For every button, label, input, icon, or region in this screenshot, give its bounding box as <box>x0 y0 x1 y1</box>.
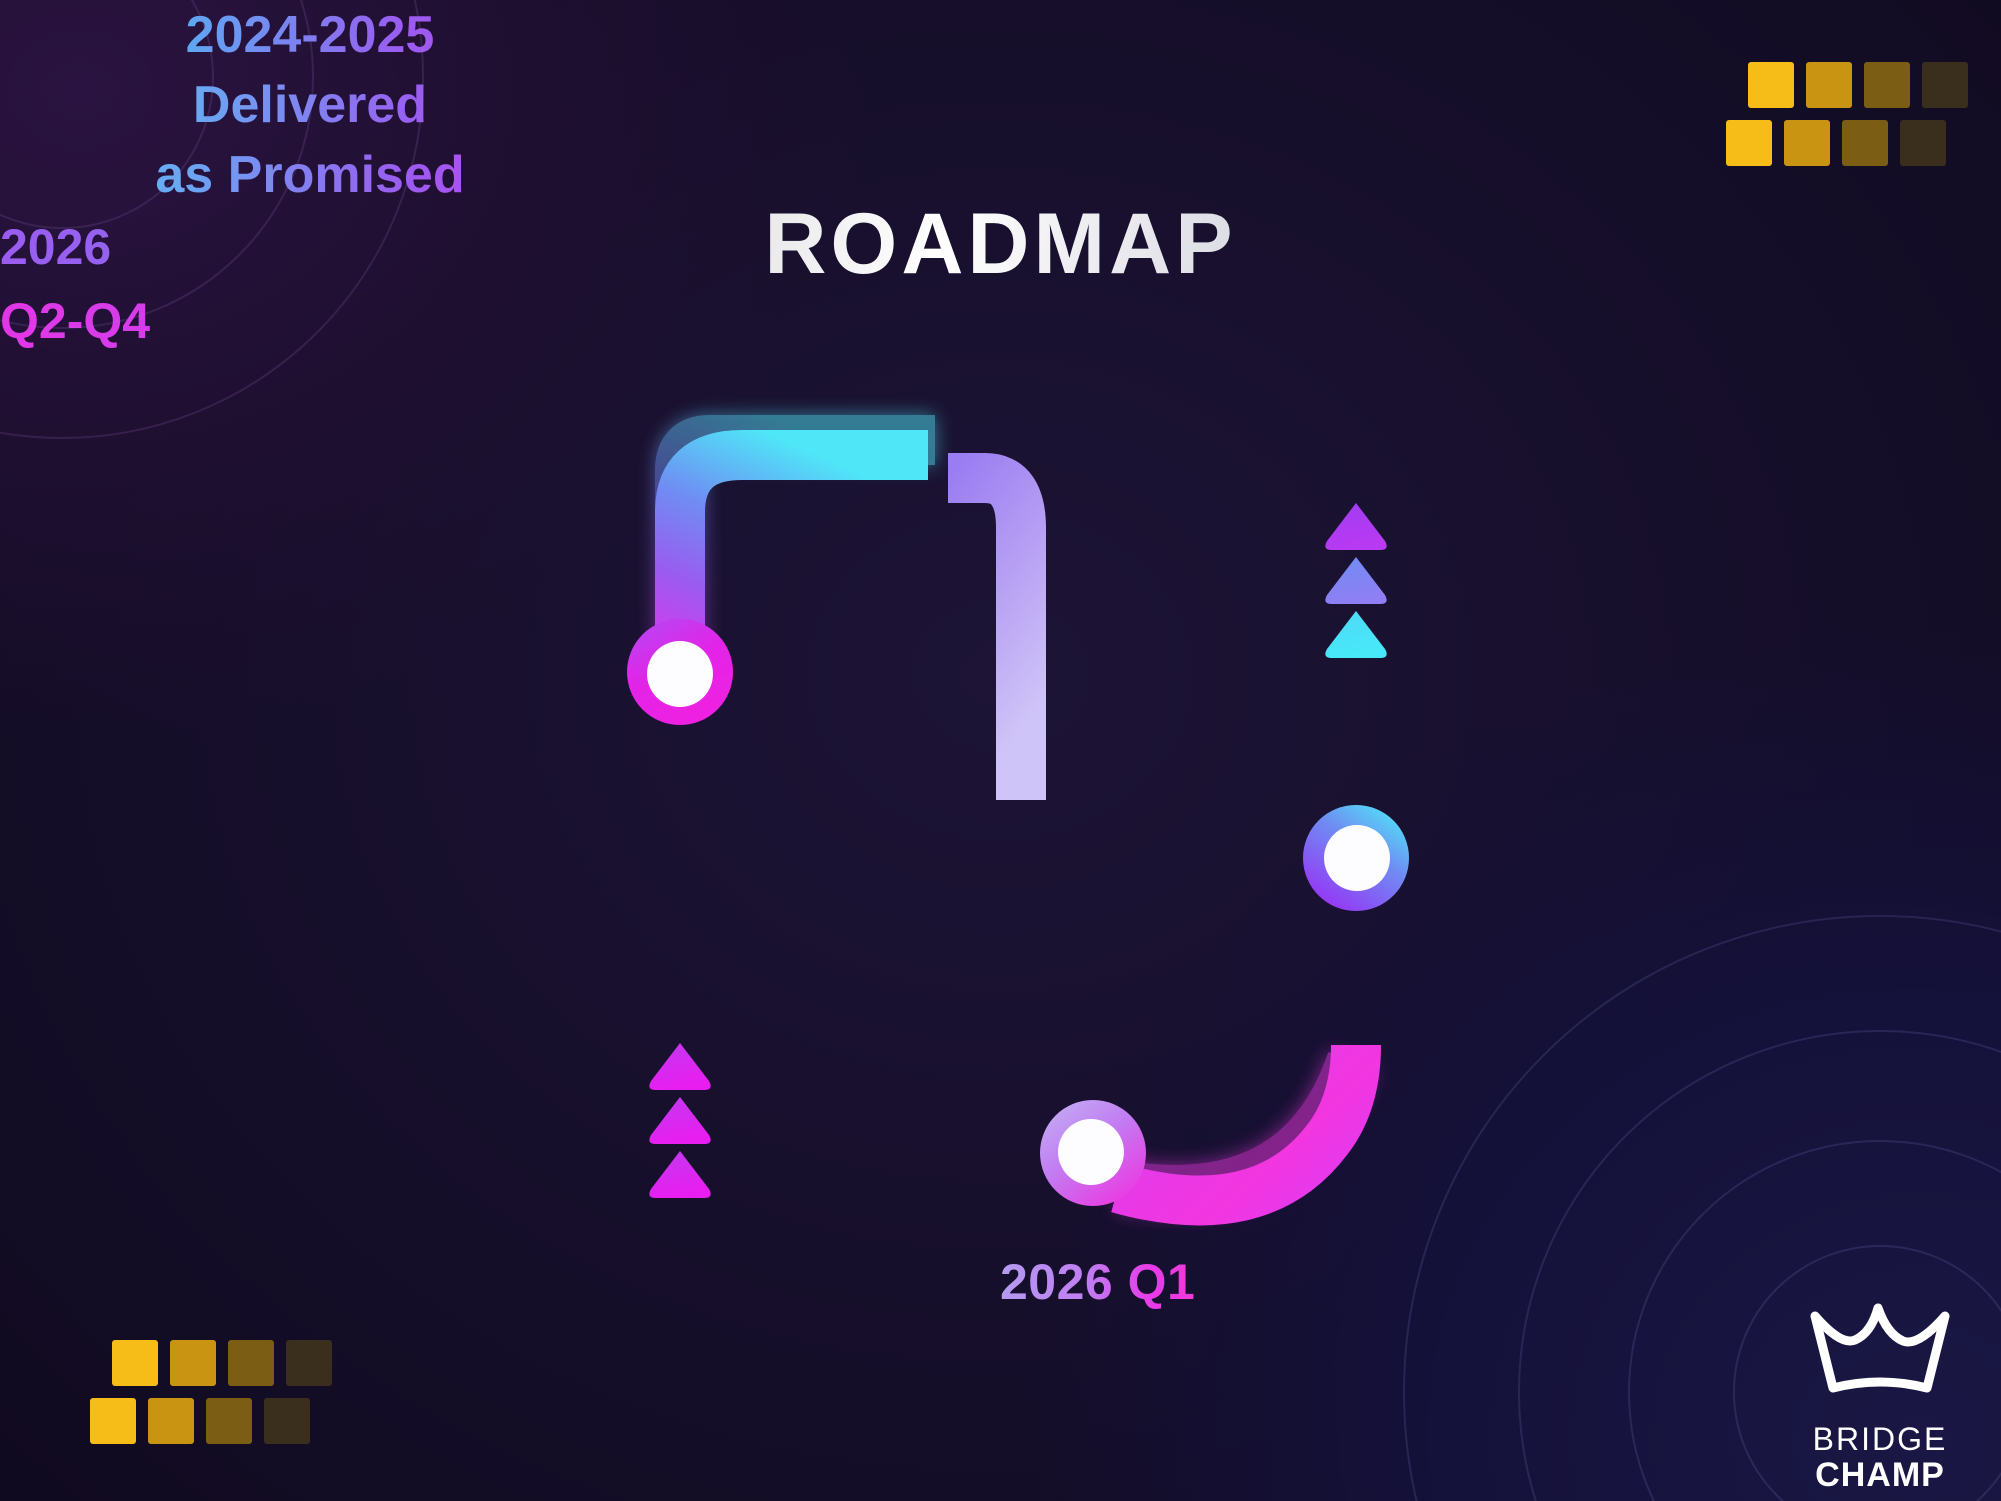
brand-name-line1: BRIDGE <box>1770 1422 1990 1456</box>
path-top-arch-right <box>948 478 1021 800</box>
up-arrow-icon <box>649 1151 710 1198</box>
up-arrow-icon <box>649 1097 710 1144</box>
up-arrow-icon <box>1325 611 1386 658</box>
up-arrow-icon <box>649 1043 710 1090</box>
page-title: ROADMAP <box>0 195 2001 294</box>
brand-logo: BRIDGE CHAMP <box>1770 1300 1990 1494</box>
milestone-label-bottom: 2026 Q1 <box>1000 1253 1195 1311</box>
path-top-arch-left <box>680 455 928 655</box>
path-bottom-curve <box>1118 1045 1356 1201</box>
milestone-node-bottom[interactable] <box>1040 1100 1146 1206</box>
milestone-node-left[interactable] <box>627 619 733 725</box>
up-arrow-icon <box>1325 557 1386 604</box>
left-arrows-group <box>649 1043 710 1198</box>
roadmap-infographic: ROADMAP 2024-2025 Delivered as Promised … <box>0 0 2001 1501</box>
milestone-node-right[interactable] <box>1303 805 1409 911</box>
up-arrow-icon <box>1325 503 1386 550</box>
crown-icon <box>1805 1300 1955 1408</box>
right-arrows-group <box>1325 503 1386 658</box>
brand-name-line2: CHAMP <box>1770 1456 1990 1494</box>
